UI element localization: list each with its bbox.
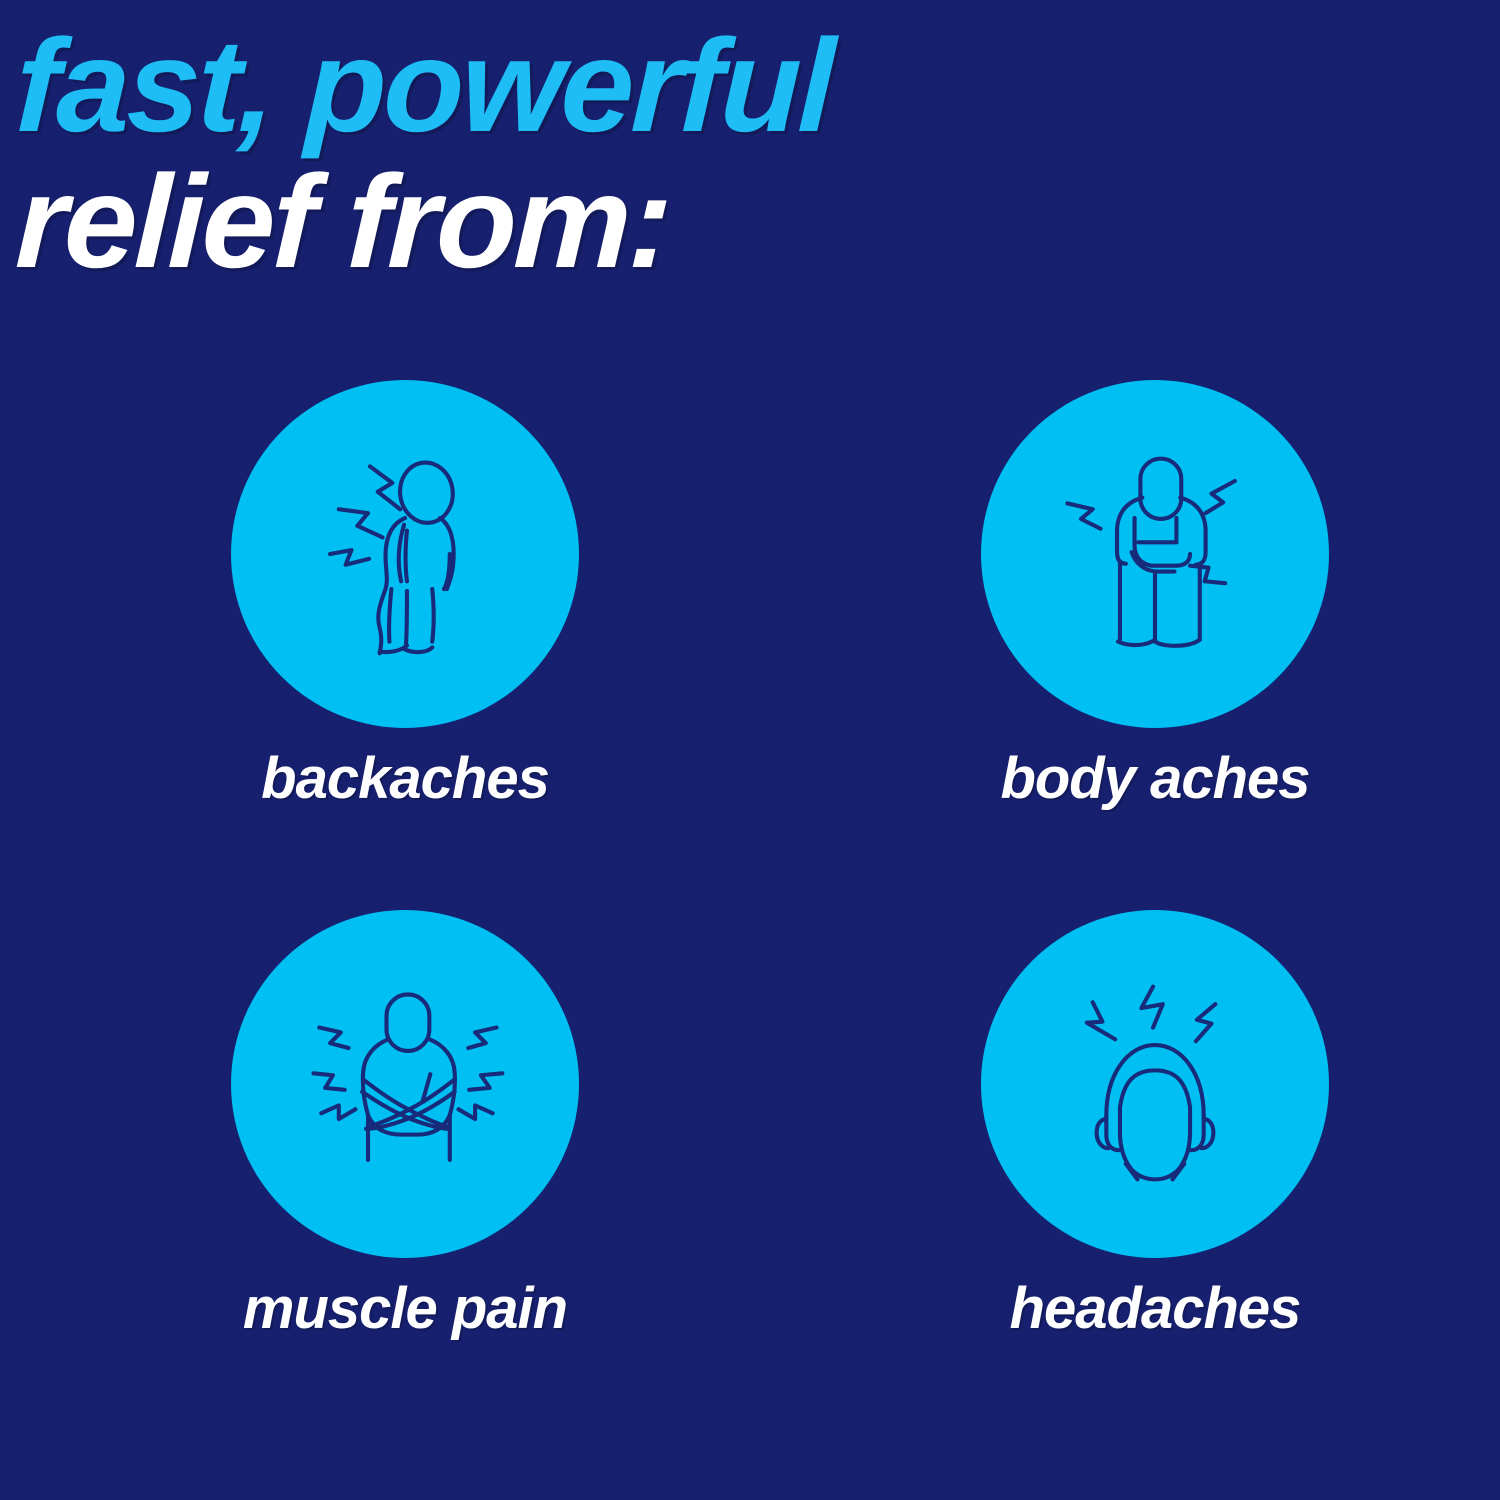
headline-line-1: fast, powerful [14, 18, 1319, 154]
icon-disc-body-aches [981, 380, 1329, 728]
symptom-tile-body-aches[interactable]: body aches [750, 380, 1500, 910]
icon-disc-backaches [231, 380, 579, 728]
hunched-person-back-pain-icon [259, 408, 551, 700]
standing-person-body-ache-icon [1009, 408, 1301, 700]
symptom-label-headaches: headaches [1010, 1280, 1301, 1338]
headline-line-2: relief from: [14, 154, 1319, 290]
head-headache-icon [1009, 938, 1301, 1230]
symptom-tile-muscle-pain[interactable]: muscle pain [0, 910, 750, 1440]
symptom-tile-backaches[interactable]: backaches [0, 380, 750, 910]
symptom-tile-grid: backaches [0, 380, 1500, 1440]
person-arms-crossed-muscle-pain-icon [259, 938, 551, 1230]
symptom-label-body-aches: body aches [1000, 750, 1309, 808]
symptom-label-muscle-pain: muscle pain [243, 1280, 567, 1338]
symptom-label-backaches: backaches [261, 750, 549, 808]
icon-disc-headaches [981, 910, 1329, 1258]
headline-block: fast, powerful relief from: [16, 18, 1316, 290]
symptom-tile-headaches[interactable]: headaches [750, 910, 1500, 1440]
icon-disc-muscle-pain [231, 910, 579, 1258]
promo-graphic: fast, powerful relief from: [0, 0, 1500, 1500]
